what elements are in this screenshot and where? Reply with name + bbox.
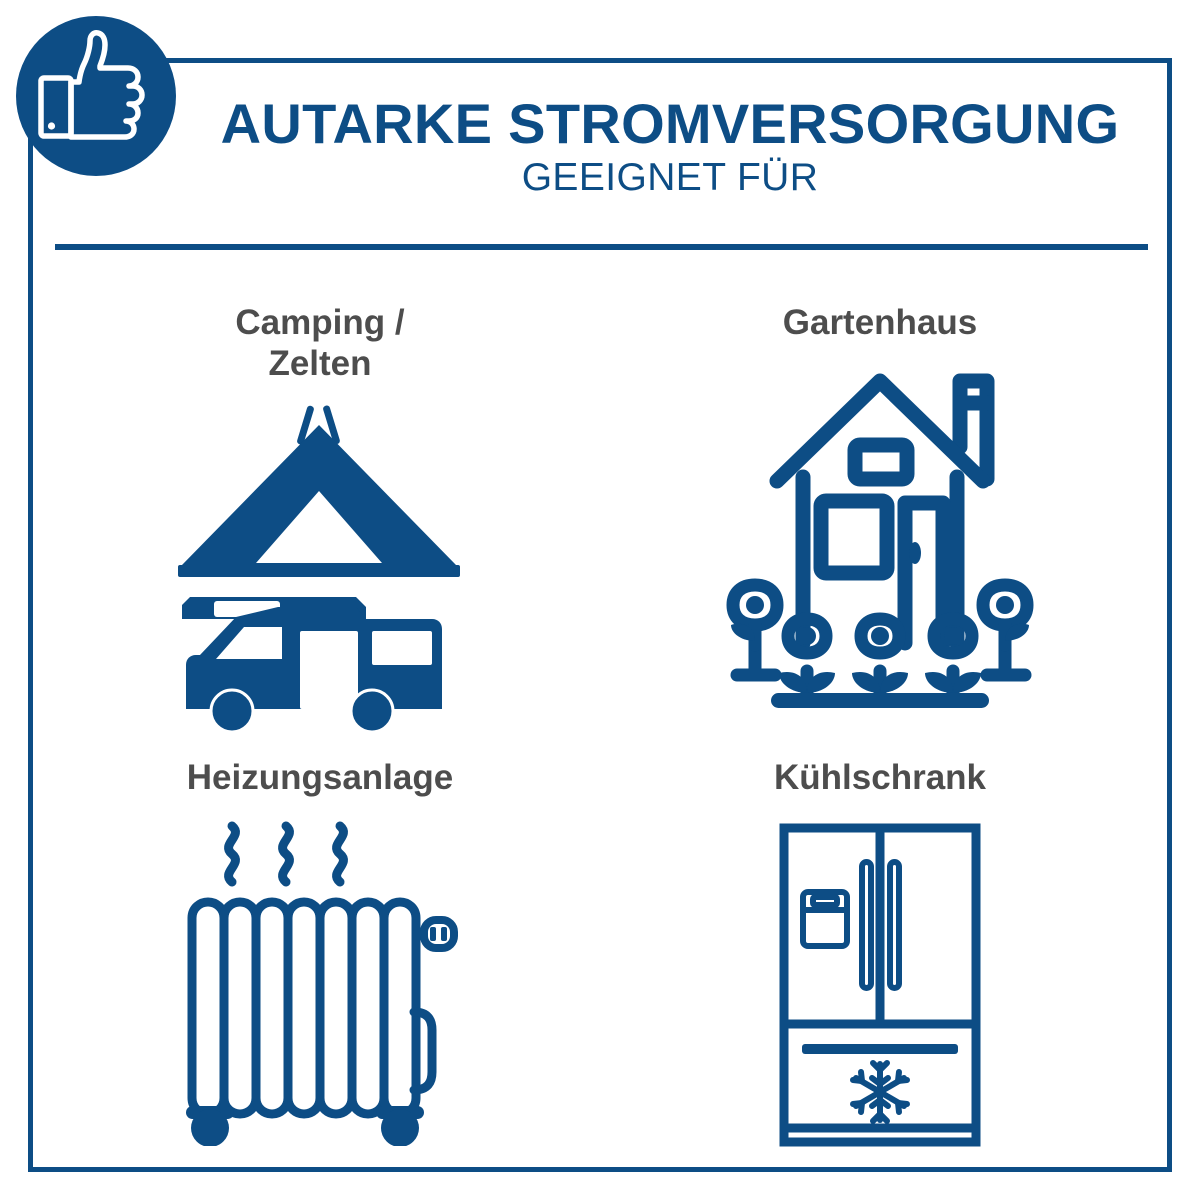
usecase-art-kuehlschrank <box>600 798 1160 1160</box>
usecase-art-camping <box>40 385 600 735</box>
usecase-label-kuehlschrank: Kühlschrank <box>774 735 986 798</box>
usecase-heizungsanlage: Heizungsanlage <box>40 735 600 1160</box>
refrigerator-icon <box>770 820 990 1150</box>
thumbs-up-badge <box>16 16 176 176</box>
thumbs-up-icon <box>16 16 176 176</box>
usecase-label-gartenhaus: Gartenhaus <box>783 280 978 343</box>
page-title: AUTARKE STROMVERSORGUNG <box>190 95 1150 152</box>
header: AUTARKE STROMVERSORGUNG GEEIGNET FÜR <box>190 95 1150 199</box>
usecase-kuehlschrank: Kühlschrank <box>600 735 1160 1160</box>
usecase-gartenhaus: Gartenhaus <box>600 280 1160 735</box>
usecase-art-gartenhaus <box>600 343 1160 735</box>
page-subtitle: GEEIGNET FÜR <box>190 158 1150 199</box>
usecase-label-camping: Camping / Zelten <box>235 280 404 385</box>
header-divider <box>55 244 1148 250</box>
usecase-art-heizungsanlage <box>40 798 600 1160</box>
poster-root: AUTARKE STROMVERSORGUNG GEEIGNET FÜR Cam… <box>0 0 1200 1200</box>
usecase-label-heizungsanlage: Heizungsanlage <box>187 735 453 798</box>
tent-and-camper-van-icon <box>160 403 480 733</box>
radiator-heater-icon <box>170 816 470 1146</box>
usecase-grid: Camping / Zelten <box>40 280 1160 1160</box>
garden-house-with-flowers-icon <box>715 353 1045 713</box>
usecase-camping: Camping / Zelten <box>40 280 600 735</box>
